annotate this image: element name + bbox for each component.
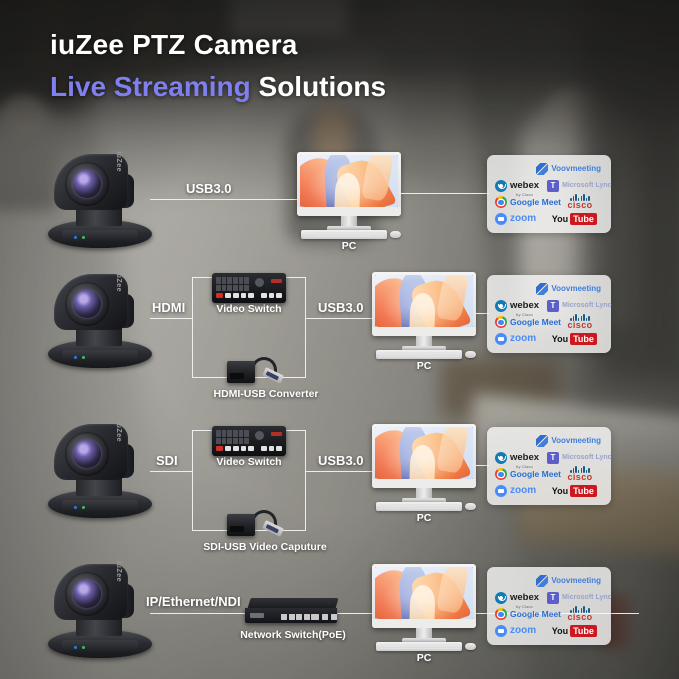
camera-led-green [82,236,85,239]
video-switch-indicator-group [266,277,282,291]
platform-google-meet[interactable]: Google Meet [495,316,557,328]
webex-icon [495,180,507,192]
google-meet-label: Google Meet [510,318,561,327]
wallpaper [375,427,473,479]
ptz-camera-row3[interactable]: iuZee [46,422,154,518]
platform-row-zoom-youtube: zoom You Tube [495,332,603,346]
webex-label: webex [510,180,539,191]
platform-row-webex-lync: webex by Cisco Microsoft Lync [495,451,603,465]
camera-lens-icon [73,170,101,198]
youtube-label-you: You [552,334,568,344]
wallpaper-glow [375,427,473,479]
google-meet-icon [495,316,507,328]
webex-icon [495,300,507,312]
camera-lens-ring-icon [65,282,109,326]
zoom-icon [495,625,507,637]
microsoft-lync-label: Microsoft Lync [562,594,612,601]
youtube-label-tube: Tube [570,485,597,497]
voovmeeting-icon [536,283,548,295]
pc-label-row1: PC [297,240,401,252]
platform-youtube[interactable]: You Tube [552,333,603,345]
microsoft-lync-icon [547,300,559,312]
platform-lync[interactable]: Microsoft Lync [547,592,603,604]
platform-row-meet-cisco: Google Meet cisco [495,195,603,209]
video-switch-row2[interactable] [212,273,286,303]
youtube-label-you: You [552,214,568,224]
platform-webex[interactable]: webex by Cisco [495,447,547,469]
link-row3-camera-out [150,471,192,472]
camera-led-blue [74,506,77,509]
webex-label: webex [510,592,539,603]
camera-head-icon: iuZee [54,274,128,330]
pc-row2[interactable]: PC [372,272,476,364]
video-switch-record-indicator [271,279,282,283]
voovmeeting-label: Voovmeeting [551,437,601,445]
link-label-row3-input: SDI [156,453,178,468]
webex-text-block: webex by Cisco [510,587,539,609]
video-switch-indicator-group [266,430,282,444]
cisco-mark: cisco [557,466,603,482]
youtube-label-tube: Tube [570,213,597,225]
video-switch-record-indicator [271,432,282,436]
platform-voovmeeting[interactable]: Voovmeeting [536,163,601,175]
cisco-label: cisco [567,201,592,210]
converter-hdmi-port [230,373,244,379]
platform-cisco[interactable]: cisco [557,194,603,210]
pc-row1[interactable]: PC [297,152,401,244]
network-switch-badge [250,613,264,618]
platform-lync[interactable]: Microsoft Lync [547,300,603,312]
platform-row-meet-cisco: Google Meet cisco [495,315,603,329]
keyboard-icon [376,502,462,511]
keyboard-icon [376,642,462,651]
monitor-screen [375,567,473,619]
platform-panel-row3: Voovmeeting webex by Cisco Microsoft Lyn… [487,427,611,505]
video-switch-buttons [216,446,282,451]
camera-head-icon: iuZee [54,564,128,620]
platform-row-zoom-youtube: zoom You Tube [495,484,603,498]
platform-google-meet[interactable]: Google Meet [495,468,557,480]
platform-youtube[interactable]: You Tube [552,625,603,637]
webex-label: webex [510,452,539,463]
microsoft-lync-icon [547,592,559,604]
google-meet-icon [495,196,507,208]
sdi-usb-capture-row3[interactable] [227,508,285,538]
monitor-screen [375,427,473,479]
zoom-icon [495,333,507,345]
monitor-chin [372,619,476,628]
platform-youtube[interactable]: You Tube [552,213,603,225]
wallpaper [300,155,398,207]
pc-row3[interactable]: PC [372,424,476,516]
video-switch-controls [216,277,282,291]
youtube-mark: You Tube [552,333,597,345]
loop-row2-left [192,277,193,377]
hdmi-usb-converter-row2[interactable] [227,355,285,385]
platform-youtube[interactable]: You Tube [552,485,603,497]
keyboard-keys [379,352,459,358]
webex-text-block: webex by Cisco [510,447,539,469]
sdi-usb-capture-label: SDI-USB Video Caputure [175,541,355,553]
youtube-mark: You Tube [552,213,597,225]
mouse-icon [390,231,401,238]
google-meet-icon [495,608,507,620]
platform-row-meet-cisco: Google Meet cisco [495,607,603,621]
camera-head-icon: iuZee [54,424,128,480]
platform-zoom[interactable]: zoom [495,485,552,497]
ptz-camera-row1[interactable]: iuZee [46,152,154,248]
link-row2-loop-to-pc [305,318,373,319]
platform-webex[interactable]: webex by Cisco [495,175,547,197]
infographic-canvas: iuZee PTZ Camera Live Streaming Solution… [0,0,679,679]
zoom-icon [495,213,507,225]
platform-zoom[interactable]: zoom [495,625,552,637]
capture-usb-plug [262,520,284,537]
webex-text-block: webex by Cisco [510,175,539,197]
camera-brand-mark: iuZee [115,271,122,292]
google-meet-label: Google Meet [510,610,561,619]
keyboard-icon [376,350,462,359]
platform-zoom[interactable]: zoom [495,333,552,345]
network-switch-row4[interactable] [245,598,341,624]
monitor-icon [297,152,401,216]
youtube-label-you: You [552,486,568,496]
platform-cisco[interactable]: cisco [557,314,603,330]
youtube-label-tube: Tube [570,333,597,345]
mouse-icon [465,643,476,650]
youtube-label-tube: Tube [570,625,597,637]
webex-icon [495,452,507,464]
camera-lens-ring-icon [65,162,109,206]
link-label-row2-output: USB3.0 [318,300,364,315]
platform-zoom[interactable]: zoom [495,213,552,225]
platform-panel-row2: Voovmeeting webex by Cisco Microsoft Lyn… [487,275,611,353]
video-switch-label-row2: Video Switch [199,303,299,315]
youtube-mark: You Tube [552,625,597,637]
monitor-icon [372,272,476,336]
page-title: iuZee PTZ Camera [50,30,386,59]
video-switch-label-row3: Video Switch [199,456,299,468]
link-label-row1: USB3.0 [186,181,232,196]
capture-sdi-port [230,526,244,532]
keyboard-icon [301,230,387,239]
page-title-block: iuZee PTZ Camera Live Streaming Solution… [50,30,386,102]
camera-lens-icon [73,580,101,608]
video-switch-controls [216,430,282,444]
microsoft-lync-label: Microsoft Lync [562,302,612,309]
webex-text-block: webex by Cisco [510,295,539,317]
pc-label-row3: PC [372,512,476,524]
voovmeeting-label: Voovmeeting [551,577,601,585]
platform-voovmeeting[interactable]: Voovmeeting [536,435,601,447]
google-meet-label: Google Meet [510,198,561,207]
keyboard-keys [379,644,459,650]
youtube-label-you: You [552,626,568,636]
monitor-icon [372,564,476,628]
zoom-label: zoom [510,214,536,224]
keyboard-keys [379,504,459,510]
capture-body [227,514,255,536]
keyboard-keys [304,232,384,238]
pc-row4[interactable]: PC [372,564,476,656]
network-switch-label: Network Switch(PoE) [222,629,364,641]
link-row1-camera-to-pc [150,199,300,200]
wallpaper-glow [300,155,398,207]
cisco-mark: cisco [557,606,603,622]
monitor-chin [297,207,401,216]
monitor-chin [372,327,476,336]
platform-row-webex-lync: webex by Cisco Microsoft Lync [495,299,603,313]
page-subtitle-rest: Solutions [251,71,386,102]
zoom-label: zoom [510,334,536,344]
page-subtitle-accent: Live Streaming [50,71,251,102]
google-meet-icon [495,468,507,480]
page-subtitle: Live Streaming Solutions [50,72,386,101]
google-meet-label: Google Meet [510,470,561,479]
converter-usb-plug [262,367,284,384]
microsoft-lync-label: Microsoft Lync [562,182,612,189]
video-switch-dial-group [251,277,264,291]
webex-icon [495,592,507,604]
camera-lens-icon [73,440,101,468]
voovmeeting-label: Voovmeeting [551,165,601,173]
monitor-chin [372,479,476,488]
camera-led-green [82,506,85,509]
camera-brand-mark: iuZee [115,561,122,582]
voovmeeting-icon [536,575,548,587]
mouse-icon [465,351,476,358]
link-row1-pc-to-platforms [401,193,489,194]
platform-row-zoom-youtube: zoom You Tube [495,212,603,226]
monitor-screen [300,155,398,207]
monitor-screen [375,275,473,327]
camera-brand-mark: iuZee [115,421,122,442]
video-switch-dial-group [251,430,264,444]
converter-body [227,361,255,383]
cisco-mark: cisco [557,314,603,330]
wallpaper [375,275,473,327]
platform-google-meet[interactable]: Google Meet [495,196,557,208]
voovmeeting-icon [536,435,548,447]
pc-label-row4: PC [372,652,476,664]
platform-voovmeeting[interactable]: Voovmeeting [536,283,601,295]
microsoft-lync-icon [547,180,559,192]
voovmeeting-icon [536,163,548,175]
hdmi-usb-converter-label: HDMI-USB Converter [186,388,346,400]
video-switch-dial [255,278,264,287]
camera-lens-icon [73,290,101,318]
platform-cisco[interactable]: cisco [557,606,603,622]
ptz-camera-row4[interactable]: iuZee [46,562,154,658]
network-switch-ports [281,614,317,620]
voovmeeting-label: Voovmeeting [551,285,601,293]
loop-row2-right [305,277,306,377]
microsoft-lync-icon [547,452,559,464]
cisco-label: cisco [567,613,592,622]
platform-panel-row1: Voovmeeting webex by Cisco Microsoft Lyn… [487,155,611,233]
platform-webex[interactable]: webex by Cisco [495,587,547,609]
camera-lens-ring-icon [65,572,109,616]
platform-panel-row4: Voovmeeting webex by Cisco Microsoft Lyn… [487,567,611,645]
platform-row-webex-lync: webex by Cisco Microsoft Lync [495,591,603,605]
platform-row-zoom-youtube: zoom You Tube [495,624,603,638]
link-row3-loop-to-pc [305,471,373,472]
cisco-label: cisco [567,321,592,330]
platform-cisco[interactable]: cisco [557,466,603,482]
platform-webex[interactable]: webex by Cisco [495,295,547,317]
monitor-icon [372,424,476,488]
camera-led-blue [74,236,77,239]
link-label-row4: IP/Ethernet/NDI [146,594,241,609]
link-row2-camera-out [150,318,192,319]
cisco-mark: cisco [557,194,603,210]
camera-led-blue [74,646,77,649]
platform-voovmeeting[interactable]: Voovmeeting [536,575,601,587]
zoom-label: zoom [510,486,536,496]
platform-google-meet[interactable]: Google Meet [495,608,557,620]
platform-lync[interactable]: Microsoft Lync [547,452,603,464]
youtube-mark: You Tube [552,485,597,497]
ptz-camera-row2[interactable]: iuZee [46,272,154,368]
zoom-label: zoom [510,626,536,636]
microsoft-lync-label: Microsoft Lync [562,454,612,461]
camera-brand-mark: iuZee [115,151,122,172]
platform-row-meet-cisco: Google Meet cisco [495,467,603,481]
wallpaper-glow [375,567,473,619]
video-switch-buttons [216,293,282,298]
link-label-row3-output: USB3.0 [318,453,364,468]
video-switch-keypad [216,277,249,291]
video-switch-row3[interactable] [212,426,286,456]
mouse-icon [465,503,476,510]
video-switch-dial [255,431,264,440]
network-switch-uplink-ports [313,614,337,620]
pc-label-row2: PC [372,360,476,372]
camera-led-blue [74,356,77,359]
platform-lync[interactable]: Microsoft Lync [547,180,603,192]
camera-head-icon: iuZee [54,154,128,210]
link-label-row2-input: HDMI [152,300,185,315]
cisco-label: cisco [567,473,592,482]
zoom-icon [495,485,507,497]
wallpaper-glow [375,275,473,327]
camera-led-green [82,356,85,359]
camera-lens-ring-icon [65,432,109,476]
loop-row3-right [305,430,306,530]
wallpaper [375,567,473,619]
platform-row-webex-lync: webex by Cisco Microsoft Lync [495,179,603,193]
loop-row3-left [192,430,193,530]
webex-label: webex [510,300,539,311]
camera-led-green [82,646,85,649]
video-switch-keypad [216,430,249,444]
